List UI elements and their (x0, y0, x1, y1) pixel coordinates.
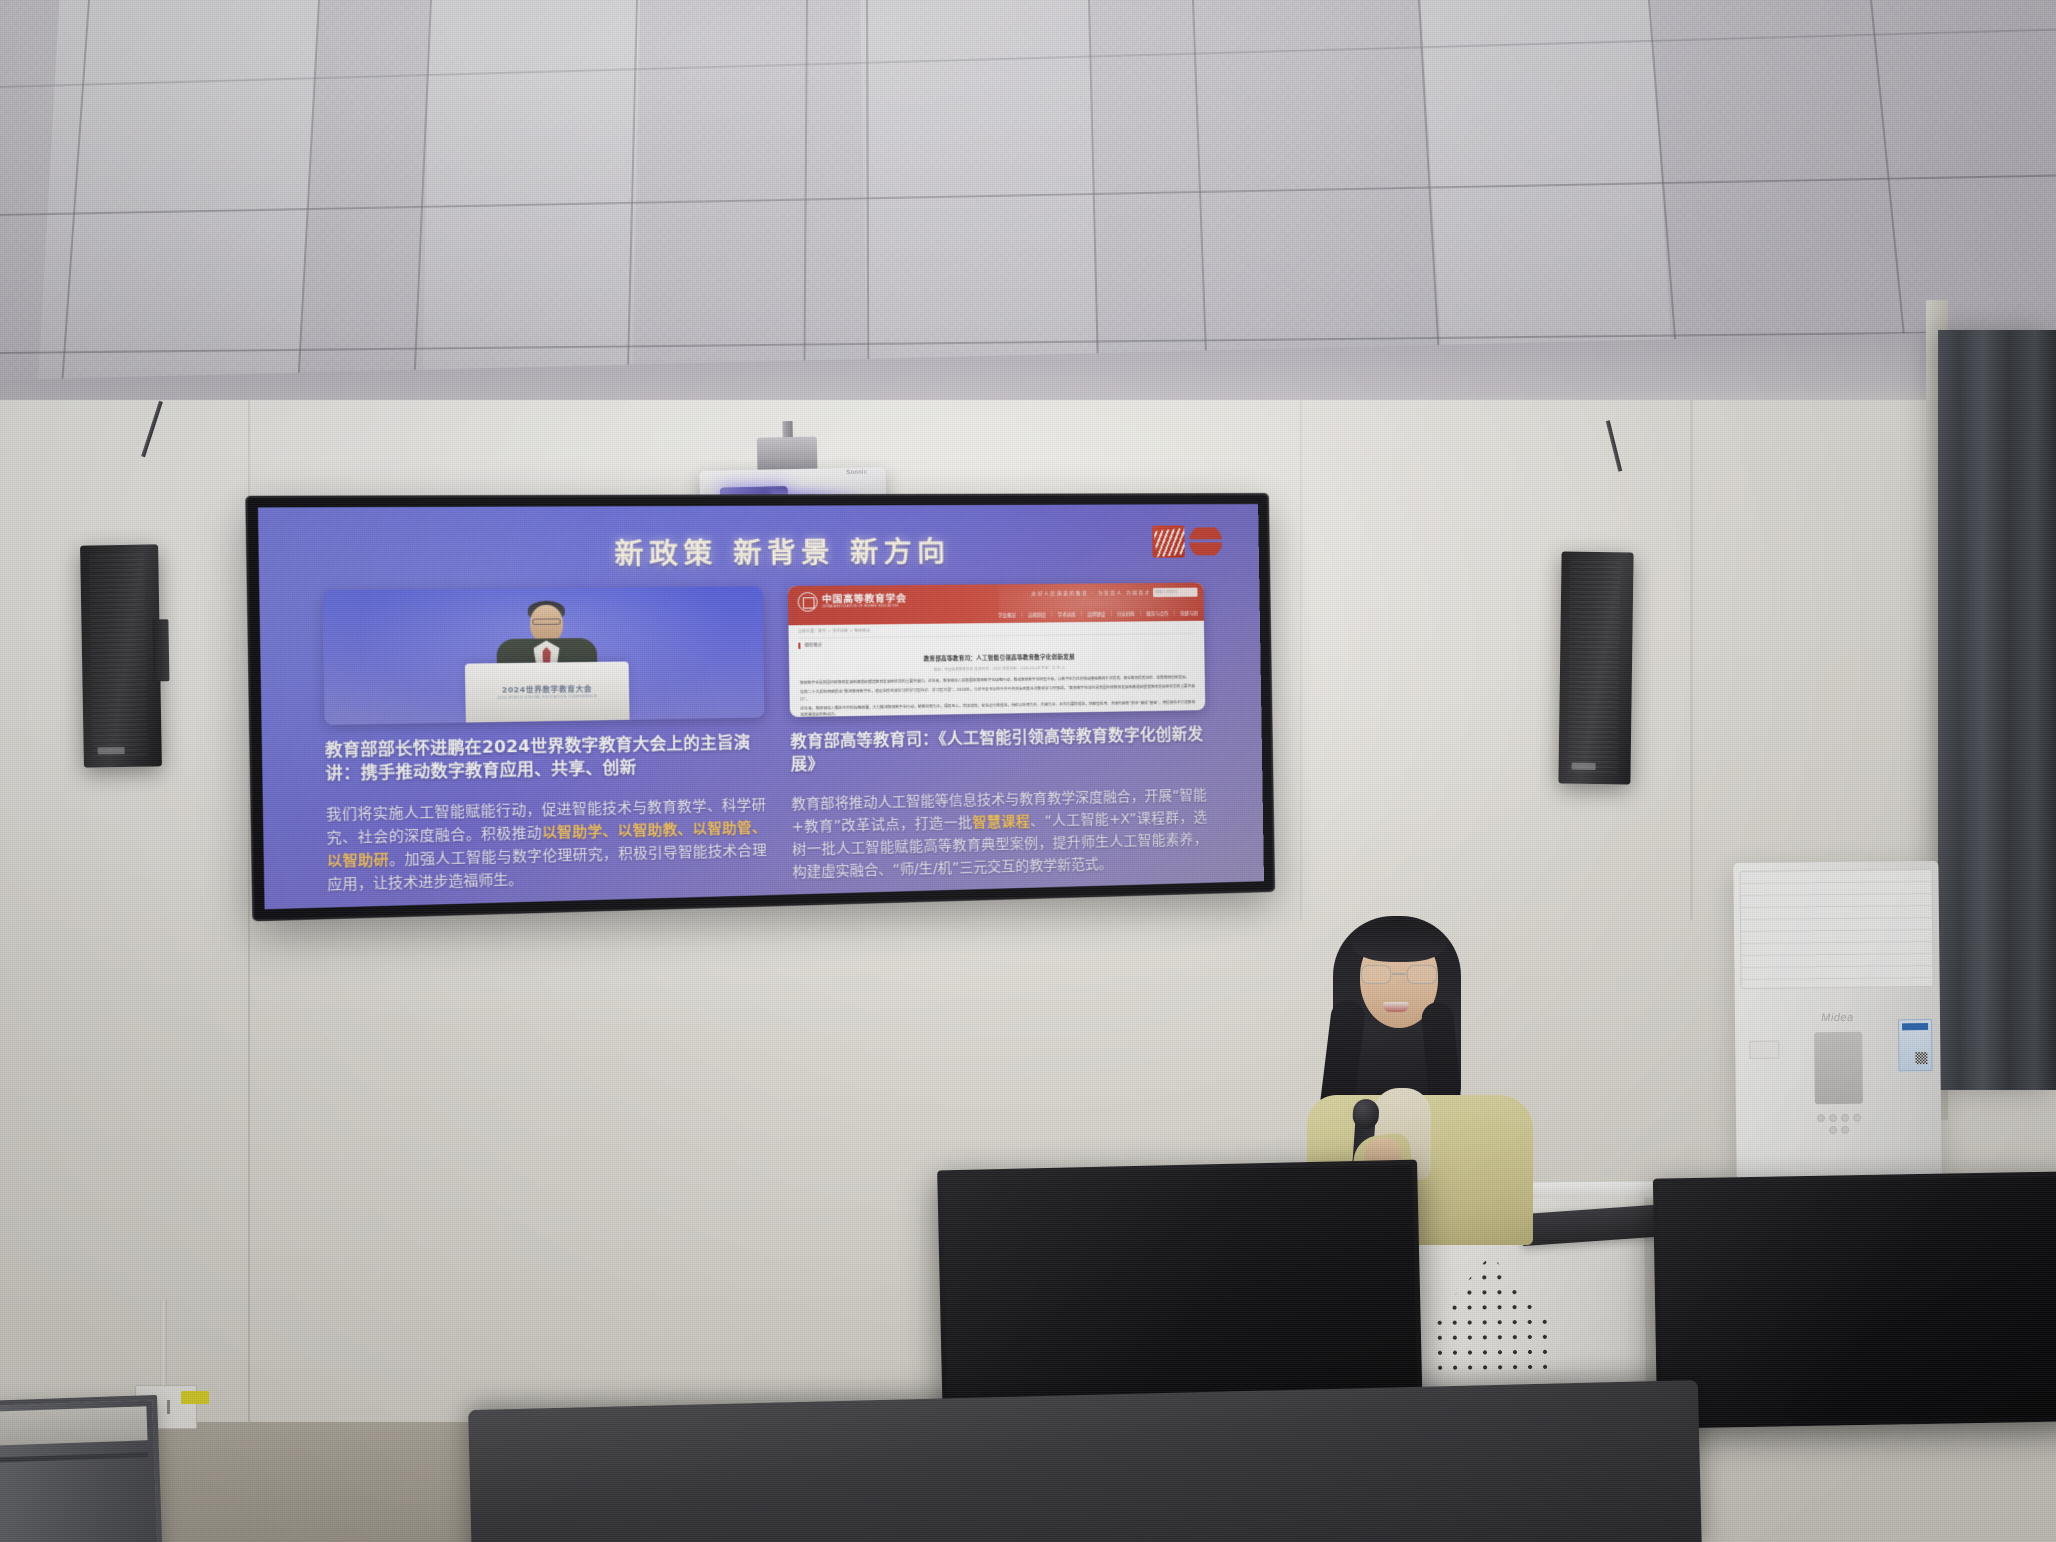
screenshot-chinese-association-higher-education-webpage: 中国高等教育学会 CHINA ASSOCIATION OF HIGHER EDU… (788, 583, 1205, 718)
midea-air-conditioner: Midea (1733, 861, 1941, 1178)
ac-button[interactable] (1829, 1126, 1837, 1134)
ac-button[interactable] (1828, 1114, 1836, 1122)
projection-screen: 新政策 新背景 新方向 (248, 495, 1274, 919)
partition-glass-pane (0, 1406, 148, 1445)
ac-air-vent (1739, 869, 1933, 989)
card-right-body: 教育部将推动人工智能等信息技术与教育教学深度融合，开展“智能+教育”改革试点，打… (791, 784, 1208, 884)
wall-speaker-left (80, 544, 162, 767)
monitor-screen-reflection (942, 1165, 1418, 1426)
speaker-bracket (152, 620, 169, 682)
ac-button[interactable] (1841, 1126, 1849, 1134)
slide-card-left: 2024世界数字教育大会 2024 WORLD DIGITAL EDUCATIO… (322, 586, 767, 897)
slide-card-row: 2024世界数字教育大会 2024 WORLD DIGITAL EDUCATIO… (259, 582, 1264, 899)
ac-button[interactable] (1852, 1114, 1860, 1122)
webpage-search-placeholder: 请输入关键词 (1155, 589, 1177, 594)
wall-speaker-right (1558, 552, 1633, 785)
webpage-nav[interactable]: 学会概况| 法规制度| 学术动态| 品牌建设| 分支机构| 服务与合作| 党建与… (788, 611, 1204, 622)
webpage-header: 中国高等教育学会 CHINA ASSOCIATION OF HIGHER EDU… (788, 583, 1204, 626)
university-logo (1152, 522, 1227, 561)
card-right-heading: 教育部高等教育司：《人工智能引领高等教育数字化创新发展》 (790, 723, 1206, 777)
speaker-glasses-icon (532, 618, 560, 625)
slide-card-right: 中国高等教育学会 CHINA ASSOCIATION OF HIGHER EDU… (788, 583, 1208, 885)
cubicle-partition (0, 1395, 163, 1542)
window-curtain[interactable] (1938, 330, 2056, 1090)
webpage-slogan: 办好人民满意的教育 · 为党育人 为国育才 (1031, 590, 1151, 597)
ac-button[interactable] (1816, 1114, 1824, 1122)
nav-item-2[interactable]: 学术动态 (1058, 612, 1076, 618)
ac-button[interactable] (1840, 1114, 1848, 1122)
speaker-grill (90, 553, 148, 758)
webpage-article-meta: 来源：中国高等教育学会 发布时间：2024 浏览次数：2024-03-18 字体… (800, 663, 1195, 674)
card-left-heading: 教育部部长怀进鹏在2024世界数字教育大会上的主旨演讲：携手推动数字教育应用、共… (325, 731, 766, 786)
webpage-site-name-en: CHINA ASSOCIATION OF HIGHER EDUCATION (822, 604, 907, 609)
speaker-grill (1567, 561, 1620, 775)
webpage-search-box[interactable]: 请输入关键词 (1153, 588, 1197, 597)
photo-minister-at-podium: 2024世界数字教育大会 2024 WORLD DIGITAL EDUCATIO… (322, 586, 764, 725)
partition-rail (0, 1452, 148, 1463)
webpage-paragraph-2: 近年来，教育部深入推进中央的战略部署，大力推进教育数字化行动，统筹应用为王，服务… (800, 699, 1195, 717)
monitor-screen-reflection (1658, 1176, 2056, 1423)
outlet-warning-label (181, 1391, 209, 1404)
ac-serial-sticker (1749, 1041, 1779, 1059)
card-left-body: 我们将实施人工智能赋能行动，促进智能技术与教育教学、科学研究、社会的深度融合。积… (326, 794, 767, 897)
lectern-speaker-perforation (1432, 1254, 1551, 1373)
webpage-article-body: 教育数字化是我国开辟教育发展新赛道和塑造教育发展新优势的重要突破口。近年来，教育… (800, 674, 1195, 717)
podium: 2024世界数字教育大会 2024 WORLD DIGITAL EDUCATIO… (464, 661, 629, 722)
projector-brand-label: Sonnic (846, 470, 867, 476)
nav-item-0[interactable]: 学会概况 (998, 613, 1016, 619)
card-right-body-highlight: 智慧课程 (972, 814, 1030, 832)
logo-mark-icon (1152, 525, 1185, 557)
webpage-section-tag: 智库观点 (798, 638, 1204, 649)
wall-conduit (160, 1300, 167, 1390)
presenter-glasses-icon (1361, 965, 1437, 985)
presenter-mouth (1383, 1002, 1409, 1012)
nav-item-1[interactable]: 法规制度 (1028, 612, 1046, 618)
ac-control-buttons[interactable] (1812, 1114, 1864, 1135)
card-left-body-part-3: 。加强人工智能与数字伦理研究，积极引导智能技术合理应用，让技术进步造福师生。 (327, 842, 767, 893)
speaker-brand-plate (98, 747, 125, 754)
webpage-article-title: 教育部高等教育司：人工智能引领高等教育数字化创新发展 (800, 651, 1195, 664)
webpage-logo: 中国高等教育学会 CHINA ASSOCIATION OF HIGHER EDU… (797, 591, 906, 612)
nav-item-6[interactable]: 党建与团 (1180, 611, 1198, 617)
speaker-brand-plate (1572, 763, 1597, 770)
nav-item-5[interactable]: 服务与合作 (1146, 611, 1168, 617)
association-emblem-icon (797, 592, 817, 612)
logo-wordmark-icon (1187, 527, 1224, 555)
nav-item-3[interactable]: 品牌建设 (1087, 612, 1105, 618)
monitor-right[interactable] (1653, 1171, 2056, 1428)
presentation-slide: 新政策 新背景 新方向 (258, 504, 1264, 909)
nav-item-4[interactable]: 分支机构 (1117, 611, 1135, 617)
projector-mount (757, 437, 818, 472)
ac-display-panel (1814, 1032, 1863, 1104)
presenter-fringe (1352, 920, 1446, 962)
ac-energy-label (1898, 1019, 1933, 1071)
slide-title: 新政策 新背景 新方向 (258, 528, 1259, 575)
classroom-photo-scene: Sonnic 新政策 新背景 新方向 (0, 0, 2056, 1542)
